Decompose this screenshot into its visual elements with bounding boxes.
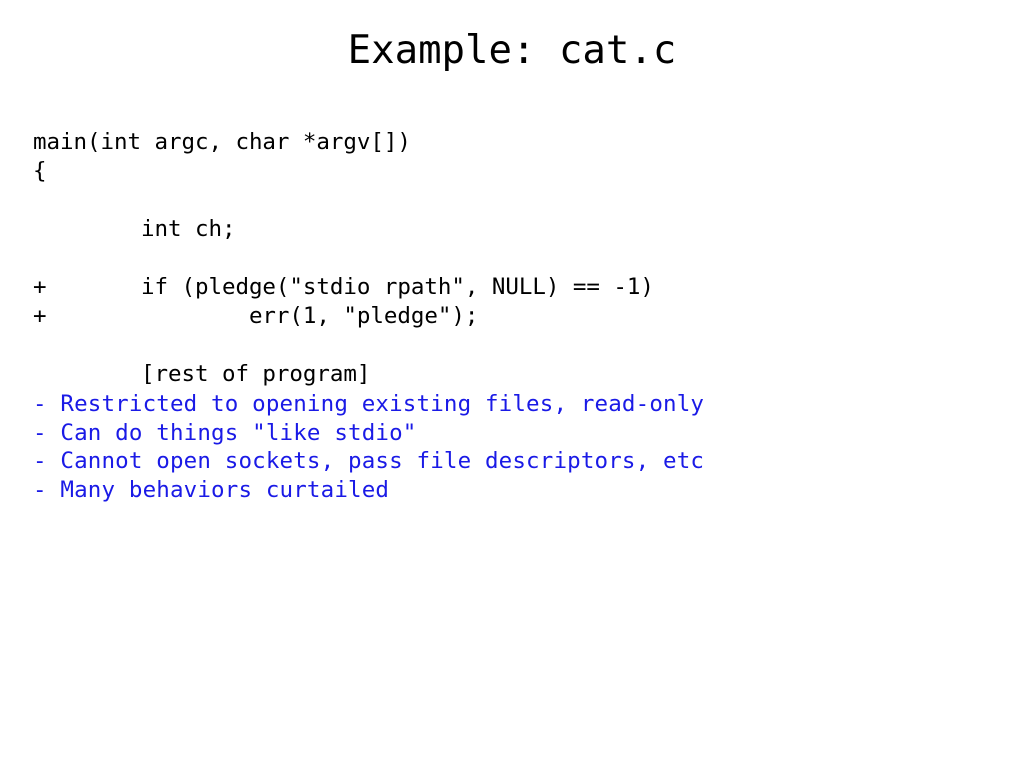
- bullet-item: - Many behaviors curtailed: [33, 476, 983, 505]
- bullet-item: - Restricted to opening existing files, …: [33, 390, 983, 419]
- code-line-blank: [33, 331, 983, 360]
- code-line-blank: [33, 186, 983, 215]
- page-title: Example: cat.c: [0, 28, 1024, 74]
- code-line-added: + err(1, "pledge");: [33, 302, 983, 331]
- bullet-item: - Can do things "like stdio": [33, 419, 983, 448]
- code-line: {: [33, 157, 983, 186]
- code-line: int ch;: [33, 215, 983, 244]
- bullet-item: - Cannot open sockets, pass file descrip…: [33, 447, 983, 476]
- code-line-blank: [33, 244, 983, 273]
- code-line: main(int argc, char *argv[]): [33, 128, 983, 157]
- code-line-placeholder: [rest of program]: [33, 360, 983, 389]
- code-line-added: + if (pledge("stdio rpath", NULL) == -1): [33, 273, 983, 302]
- code-listing: main(int argc, char *argv[]) { int ch; +…: [33, 128, 983, 389]
- bullet-list: - Restricted to opening existing files, …: [33, 390, 983, 504]
- presentation-slide: Example: cat.c main(int argc, char *argv…: [0, 0, 1024, 768]
